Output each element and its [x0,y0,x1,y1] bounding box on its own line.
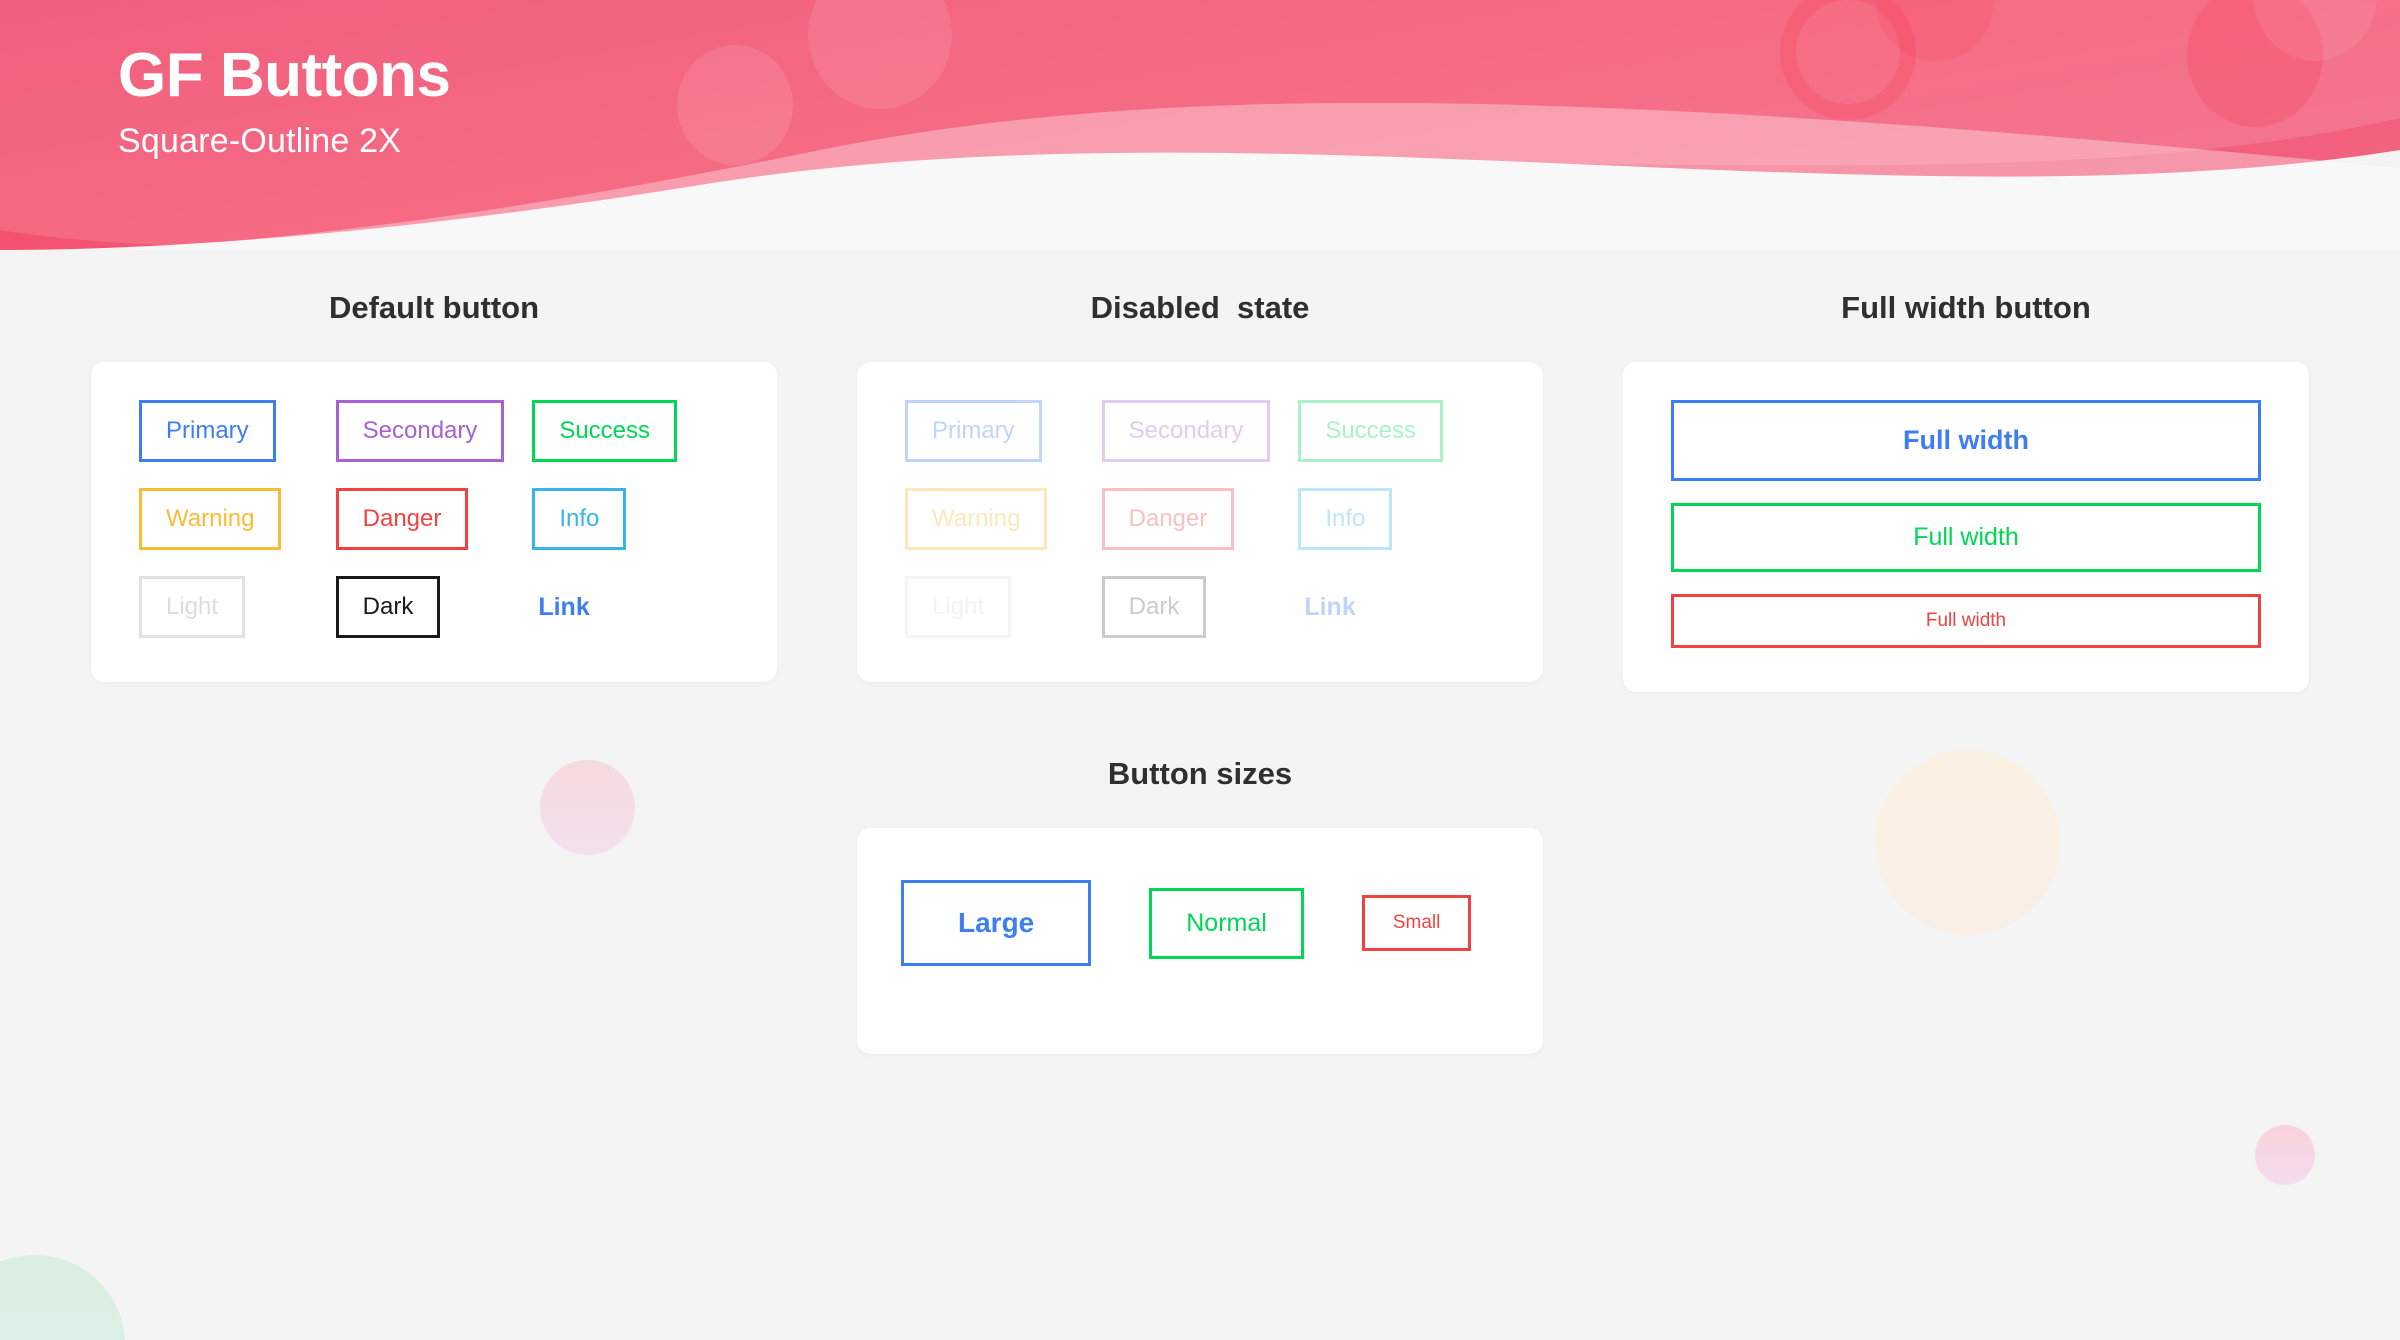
button-sizes-row: LargeNormalSmall [901,880,1499,966]
section-title-disabled: Disabled state [857,290,1543,326]
section-title-full-width: Full width button [1623,290,2309,326]
card-button-sizes: LargeNormalSmall [857,828,1543,1054]
section-title-default: Default button [91,290,777,326]
button-link[interactable]: Link [532,577,595,638]
full-width-button-danger[interactable]: Full width [1671,594,2261,648]
section-disabled-state: Disabled state PrimarySecondarySuccessWa… [857,290,1543,692]
button-dark[interactable]: Dark [336,576,441,638]
bottom-section-row: Button sizes LargeNormalSmall [0,692,2400,1054]
button-primary[interactable]: Primary [905,400,1042,462]
size-button-normal[interactable]: Normal [1149,888,1304,959]
page-header: GF Buttons Square-Outline 2X [0,0,2400,250]
section-default-button: Default button PrimarySecondarySuccessWa… [91,290,777,692]
button-warning[interactable]: Warning [139,488,281,550]
card-default-buttons: PrimarySecondarySuccessWarningDangerInfo… [91,362,777,682]
button-secondary[interactable]: Secondary [336,400,505,462]
default-button-grid: PrimarySecondarySuccessWarningDangerInfo… [139,400,729,638]
page-subtitle: Square-Outline 2X [118,122,451,161]
button-primary[interactable]: Primary [139,400,276,462]
full-width-button-primary[interactable]: Full width [1671,400,2261,481]
top-sections-row: Default button PrimarySecondarySuccessWa… [0,250,2400,692]
button-link[interactable]: Link [1298,577,1361,638]
decorative-circle-green [0,1255,125,1340]
size-button-large[interactable]: Large [901,880,1091,966]
size-button-small[interactable]: Small [1362,895,1472,951]
section-button-sizes: Button sizes LargeNormalSmall [857,756,1543,1054]
button-success[interactable]: Success [532,400,677,462]
button-danger[interactable]: Danger [336,488,469,550]
button-info[interactable]: Info [532,488,626,550]
button-dark[interactable]: Dark [1102,576,1207,638]
page-title: GF Buttons [118,42,451,110]
button-info[interactable]: Info [1298,488,1392,550]
button-secondary[interactable]: Secondary [1102,400,1271,462]
card-disabled-buttons: PrimarySecondarySuccessWarningDangerInfo… [857,362,1543,682]
button-light[interactable]: Light [139,576,245,638]
button-danger[interactable]: Danger [1102,488,1235,550]
section-title-button-sizes: Button sizes [857,756,1543,792]
main-content: Default button PrimarySecondarySuccessWa… [0,250,2400,1054]
section-full-width-button: Full width button Full widthFull widthFu… [1623,290,2309,692]
button-success[interactable]: Success [1298,400,1443,462]
header-text-block: GF Buttons Square-Outline 2X [118,42,451,161]
decorative-circle-pink-small [2255,1125,2315,1185]
disabled-button-grid: PrimarySecondarySuccessWarningDangerInfo… [905,400,1495,638]
full-width-button-success[interactable]: Full width [1671,503,2261,572]
button-warning[interactable]: Warning [905,488,1047,550]
full-width-button-stack: Full widthFull widthFull width [1671,400,2261,648]
button-light[interactable]: Light [905,576,1011,638]
card-full-width-buttons: Full widthFull widthFull width [1623,362,2309,692]
